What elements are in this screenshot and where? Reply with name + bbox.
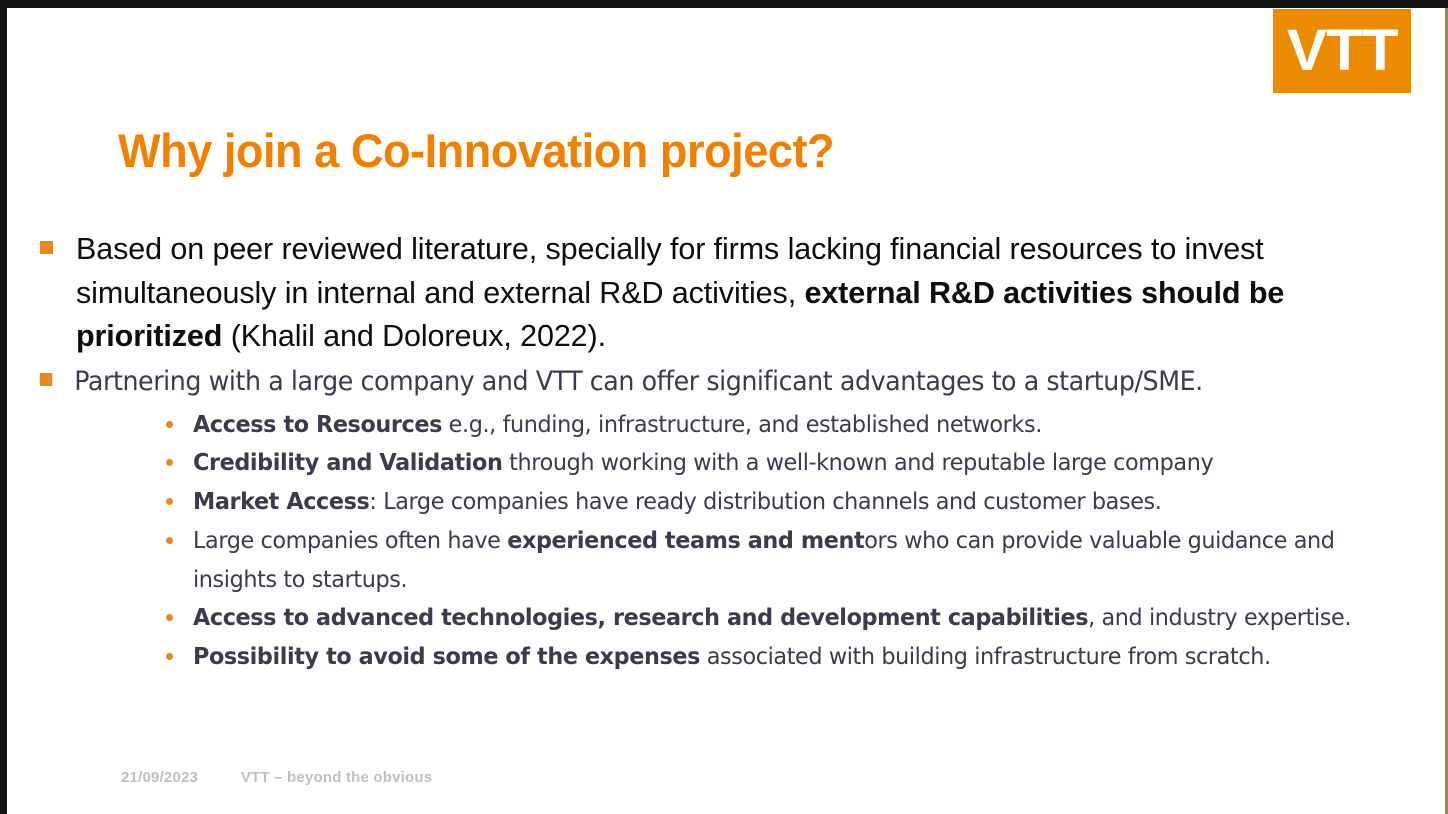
slide: VTT Why join a Co-Innovation project? Ba… xyxy=(0,0,1448,814)
square-bullet-icon xyxy=(40,373,52,386)
dot-bullet-icon xyxy=(166,421,173,428)
dot-bullet-icon xyxy=(166,459,173,466)
sub-access-to-resources: Access to Resources e.g., funding, infra… xyxy=(36,405,1432,444)
dot-bullet-icon xyxy=(166,537,173,544)
dot-bullet-icon xyxy=(166,498,173,505)
sub-experienced-teams: Large companies often have experienced t… xyxy=(36,521,1432,599)
sub-credibility-validation-text: Credibility and Validation through worki… xyxy=(193,443,1370,482)
page-title: Why join a Co-Innovation project? xyxy=(118,123,834,178)
sub-access-to-resources-text: Access to Resources e.g., funding, infra… xyxy=(193,405,1370,444)
slide-body: Based on peer reviewed literature, speci… xyxy=(36,228,1432,676)
sub-advanced-technologies-text: Access to advanced technologies, researc… xyxy=(193,598,1370,637)
sub-advanced-technologies: Access to advanced technologies, researc… xyxy=(36,598,1432,637)
vtt-logo-text: VTT xyxy=(1287,22,1398,80)
sub-experienced-teams-text: Large companies often have experienced t… xyxy=(193,521,1370,599)
footer-tagline: VTT – beyond the obvious xyxy=(241,769,432,786)
sub-bullet-list: Access to Resources e.g., funding, infra… xyxy=(36,405,1432,677)
sub-credibility-validation: Credibility and Validation through worki… xyxy=(36,443,1432,482)
slide-frame-top-border xyxy=(0,0,1448,8)
sub-avoid-expenses: Possibility to avoid some of the expense… xyxy=(36,637,1432,676)
square-bullet-icon xyxy=(40,241,53,254)
sub-market-access-text: Market Access: Large companies have read… xyxy=(193,482,1370,521)
bullet-partnering-text: Partnering with a large company and VTT … xyxy=(74,366,1203,397)
bullet-partnering: Partnering with a large company and VTT … xyxy=(36,361,1369,403)
bullet-literature: Based on peer reviewed literature, speci… xyxy=(36,228,1432,359)
dot-bullet-icon xyxy=(166,653,173,660)
footer-date: 21/09/2023 xyxy=(121,769,198,786)
dot-bullet-icon xyxy=(166,614,173,621)
sub-market-access: Market Access: Large companies have read… xyxy=(36,482,1432,521)
slide-footer: 21/09/2023 VTT – beyond the obvious xyxy=(121,769,432,786)
slide-frame-left-border xyxy=(0,0,7,814)
vtt-logo: VTT xyxy=(1273,9,1411,93)
bullet-literature-text: Based on peer reviewed literature, speci… xyxy=(76,232,1284,353)
sub-avoid-expenses-text: Possibility to avoid some of the expense… xyxy=(193,637,1370,676)
